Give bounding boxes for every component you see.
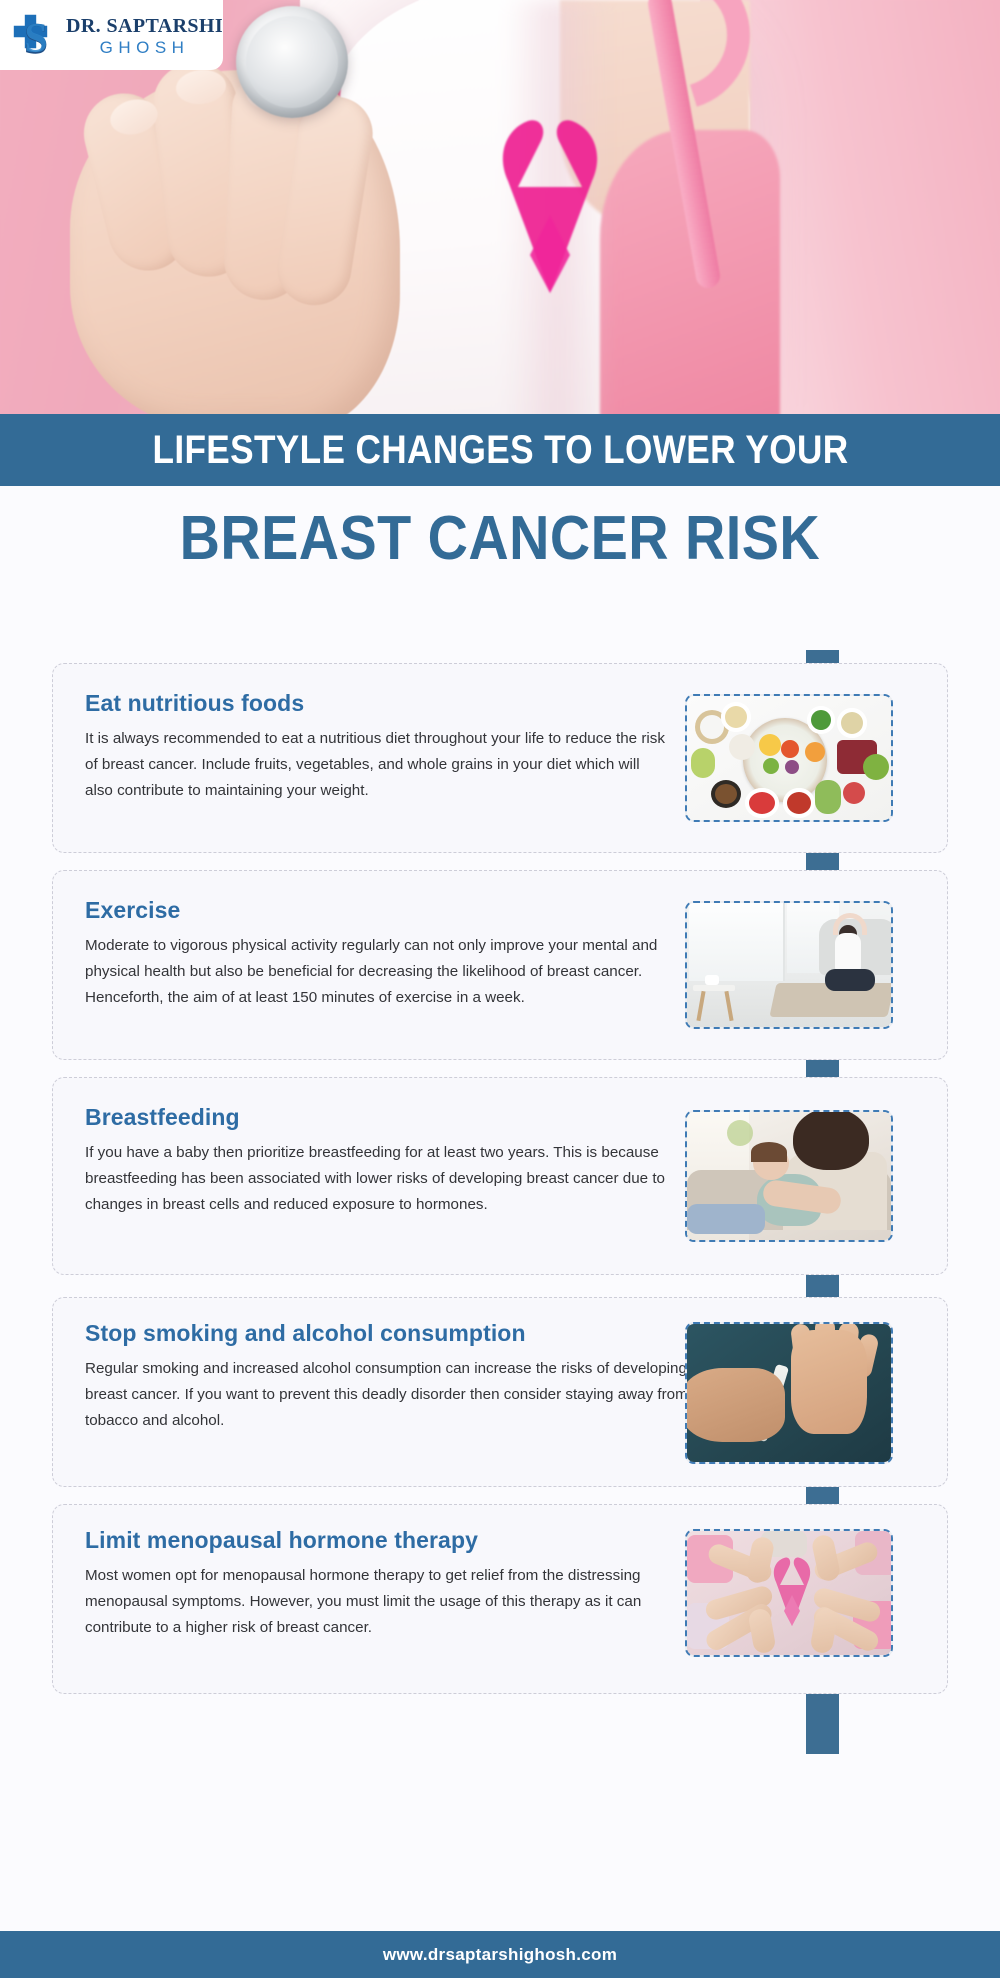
headline-top-line: LIFESTYLE CHANGES TO LOWER YOUR (152, 428, 848, 473)
card-title: Breastfeeding (85, 1104, 685, 1131)
headline-banner: LIFESTYLE CHANGES TO LOWER YOUR (0, 414, 1000, 486)
card-thumbnail (685, 694, 893, 822)
card-title: Exercise (85, 897, 665, 924)
list-item[interactable]: Eat nutritious foods It is always recomm… (52, 663, 948, 853)
card-text: Most women opt for menopausal hormone th… (85, 1563, 685, 1641)
card-title: Limit menopausal hormone therapy (85, 1527, 685, 1554)
pink-ribbon-icon (769, 1555, 815, 1627)
card-thumbnail (685, 1110, 893, 1242)
brand-logo[interactable]: S S DR. SAPTARSHI GHOSH (0, 0, 223, 70)
card-text: Moderate to vigorous physical activity r… (85, 933, 665, 1011)
footer-bar: www.drsaptarshighosh.com (0, 1931, 1000, 1978)
list-item[interactable]: Exercise Moderate to vigorous physical a… (52, 870, 948, 1060)
svg-text:S: S (24, 16, 47, 61)
page-title: BREAST CANCER RISK (0, 486, 1000, 590)
card-title: Eat nutritious foods (85, 690, 665, 717)
card-text: Regular smoking and increased alcohol co… (85, 1356, 695, 1434)
card-thumbnail (685, 1529, 893, 1657)
card-thumbnail (685, 1322, 893, 1464)
list-item[interactable]: Limit menopausal hormone therapy Most wo… (52, 1504, 948, 1694)
logo-name-line1: DR. SAPTARSHI (66, 16, 223, 36)
card-text: It is always recommended to eat a nutrit… (85, 726, 665, 804)
website-url[interactable]: www.drsaptarshighosh.com (383, 1945, 617, 1965)
logo-name-line2: GHOSH (66, 36, 223, 56)
medical-cross-s-monogram-icon: S S (8, 9, 60, 61)
card-text: If you have a baby then prioritize breas… (85, 1140, 685, 1218)
list-item[interactable]: Stop smoking and alcohol consumption Reg… (52, 1297, 948, 1487)
card-title: Stop smoking and alcohol consumption (85, 1320, 695, 1347)
list-item[interactable]: Breastfeeding If you have a baby then pr… (52, 1077, 948, 1275)
headline-main-line: BREAST CANCER RISK (180, 503, 821, 574)
card-thumbnail (685, 901, 893, 1029)
